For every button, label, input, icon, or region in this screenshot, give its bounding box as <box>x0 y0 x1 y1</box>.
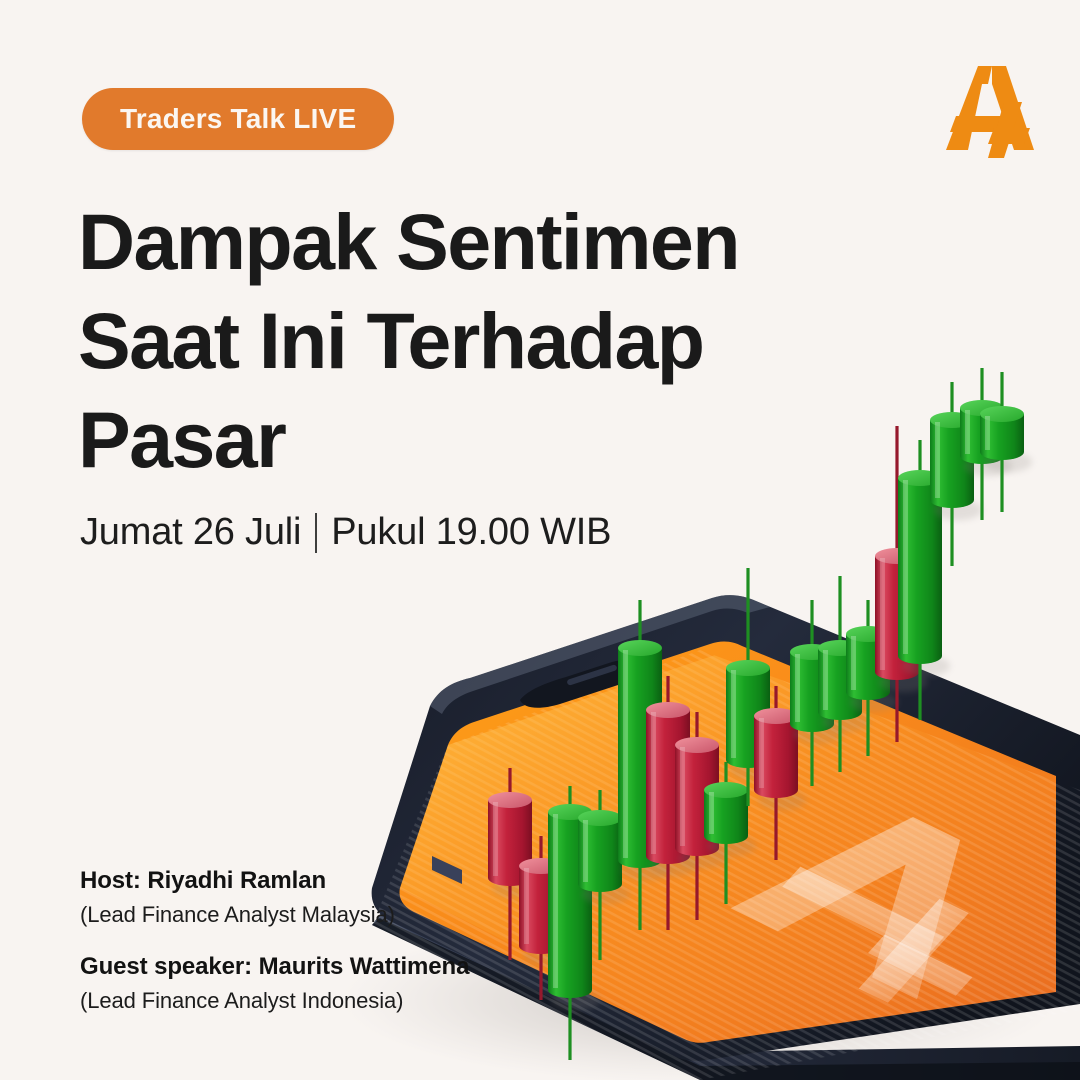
headline-line-1: Dampak Sentimen <box>78 192 838 291</box>
guest-role: (Lead Finance Analyst Indonesia) <box>80 986 469 1016</box>
page-title: Dampak Sentimen Saat Ini Terhadap Pasar <box>78 192 838 489</box>
guest-credit: Guest speaker: Maurits Wattimena (Lead F… <box>80 952 469 1016</box>
live-badge-label: Traders Talk LIVE <box>120 103 356 135</box>
headline-line-2: Saat Ini Terhadap <box>78 291 838 390</box>
event-datetime: Jumat 26 Juli Pukul 19.00 WIB <box>80 511 611 554</box>
headline-line-3: Pasar <box>78 390 838 489</box>
host-credit: Host: Riyadhi Ramlan (Lead Finance Analy… <box>80 866 395 930</box>
brand-logo <box>930 58 1038 163</box>
event-time: Pukul 19.00 WIB <box>331 511 611 554</box>
host-role: (Lead Finance Analyst Malaysia) <box>80 900 395 930</box>
event-date: Jumat 26 Juli <box>80 511 301 554</box>
candlestick <box>980 372 1032 512</box>
datetime-divider <box>315 513 317 553</box>
host-name: Host: Riyadhi Ramlan <box>80 866 395 896</box>
live-badge[interactable]: Traders Talk LIVE <box>82 88 394 150</box>
guest-name: Guest speaker: Maurits Wattimena <box>80 952 469 982</box>
poster-canvas: Traders Talk LIVE Dampak Sentimen Saat I… <box>0 0 1080 1080</box>
